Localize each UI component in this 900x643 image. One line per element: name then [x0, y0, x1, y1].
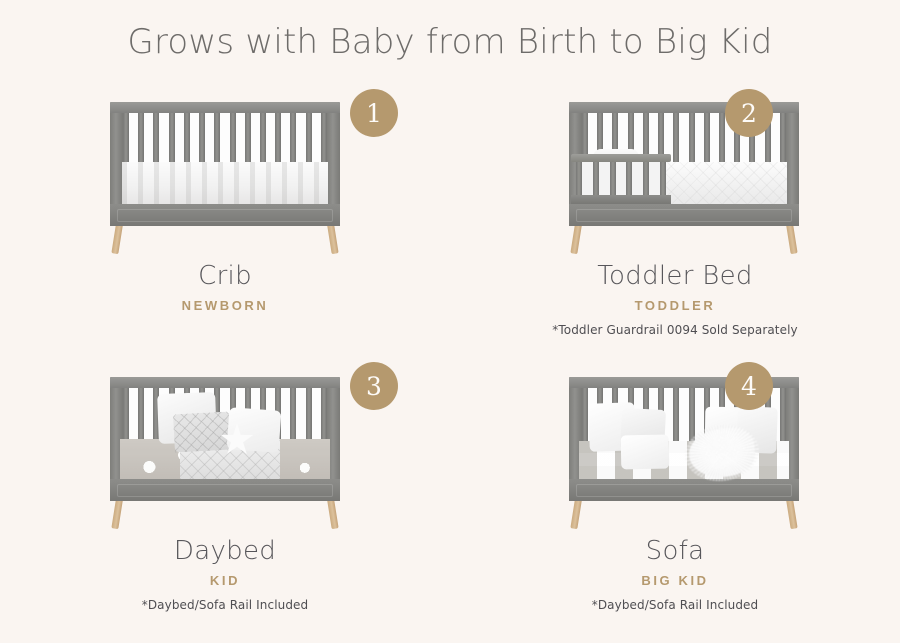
sofa-frame [559, 377, 809, 501]
sofa-name: Sofa [450, 537, 900, 567]
daybed-top-rail [110, 377, 340, 388]
crib-mattress [122, 162, 328, 204]
stage-card-daybed[interactable]: 3 [0, 353, 450, 628]
toddler-bed-illustration [559, 102, 809, 254]
toddler-bed-illustration-stage [450, 102, 900, 262]
stage-badge-3: 3 [350, 362, 398, 410]
daybed-base-rail [110, 479, 340, 501]
daybed-leg-right [327, 498, 339, 529]
toddler-bed-name: Toddler Bed [450, 262, 900, 292]
stage-badge-4: 4 [725, 362, 773, 410]
sofa-caption: Sofa BIG KID *Daybed/Sofa Rail Included [450, 537, 900, 612]
stage-grid: 1 [0, 78, 900, 638]
toddler-bed-leg-right [786, 223, 798, 254]
sofa-illustration [559, 377, 809, 529]
sofa-leg-right [786, 498, 798, 529]
toddler-bed-stage: TODDLER [450, 298, 900, 313]
sofa-pillow-3 [621, 435, 670, 470]
crib-leg-right [327, 223, 339, 254]
stage-card-toddler-bed[interactable]: 2 [450, 78, 900, 353]
crib-caption: Crib NEWBORN [0, 262, 450, 313]
crib-name: Crib [0, 262, 450, 292]
sofa-illustration-stage [450, 377, 900, 537]
sofa-note: *Daybed/Sofa Rail Included [450, 598, 900, 612]
stage-badge-2: 2 [725, 89, 773, 137]
daybed-pillow-quilted [173, 412, 231, 453]
sofa-base-rail [569, 479, 799, 501]
crib-frame [100, 102, 350, 226]
stage-card-sofa[interactable]: 4 [450, 353, 900, 628]
sofa-stage: BIG KID [450, 573, 900, 588]
daybed-name: Daybed [0, 537, 450, 567]
daybed-stage: KID [0, 573, 450, 588]
page-title: Grows with Baby from Birth to Big Kid [0, 22, 900, 62]
toddler-guardrail [571, 154, 671, 204]
guardrail-slats [576, 162, 666, 195]
toddler-bed-caption: Toddler Bed TODDLER *Toddler Guardrail 0… [450, 262, 900, 337]
conversion-chart-panel: Grows with Baby from Birth to Big Kid 1 [0, 0, 900, 643]
stage-badge-1: 1 [350, 89, 398, 137]
daybed-leg-left [111, 498, 123, 529]
crib-base-rail [110, 204, 340, 226]
sofa-leg-left [570, 498, 582, 529]
toddler-bed-base-rail [569, 204, 799, 226]
toddler-bed-note: *Toddler Guardrail 0094 Sold Separately [450, 323, 900, 337]
toddler-bed-leg-left [570, 223, 582, 254]
daybed-illustration [100, 377, 350, 529]
guardrail-top-rail [571, 154, 671, 162]
daybed-caption: Daybed KID *Daybed/Sofa Rail Included [0, 537, 450, 612]
crib-illustration [100, 102, 350, 254]
crib-stage: NEWBORN [0, 298, 450, 313]
daybed-note: *Daybed/Sofa Rail Included [0, 598, 450, 612]
crib-leg-left [111, 223, 123, 254]
stage-card-crib[interactable]: 1 [0, 78, 450, 353]
daybed-frame [100, 377, 350, 501]
crib-top-rail [110, 102, 340, 113]
guardrail-bottom-rail [571, 195, 671, 204]
